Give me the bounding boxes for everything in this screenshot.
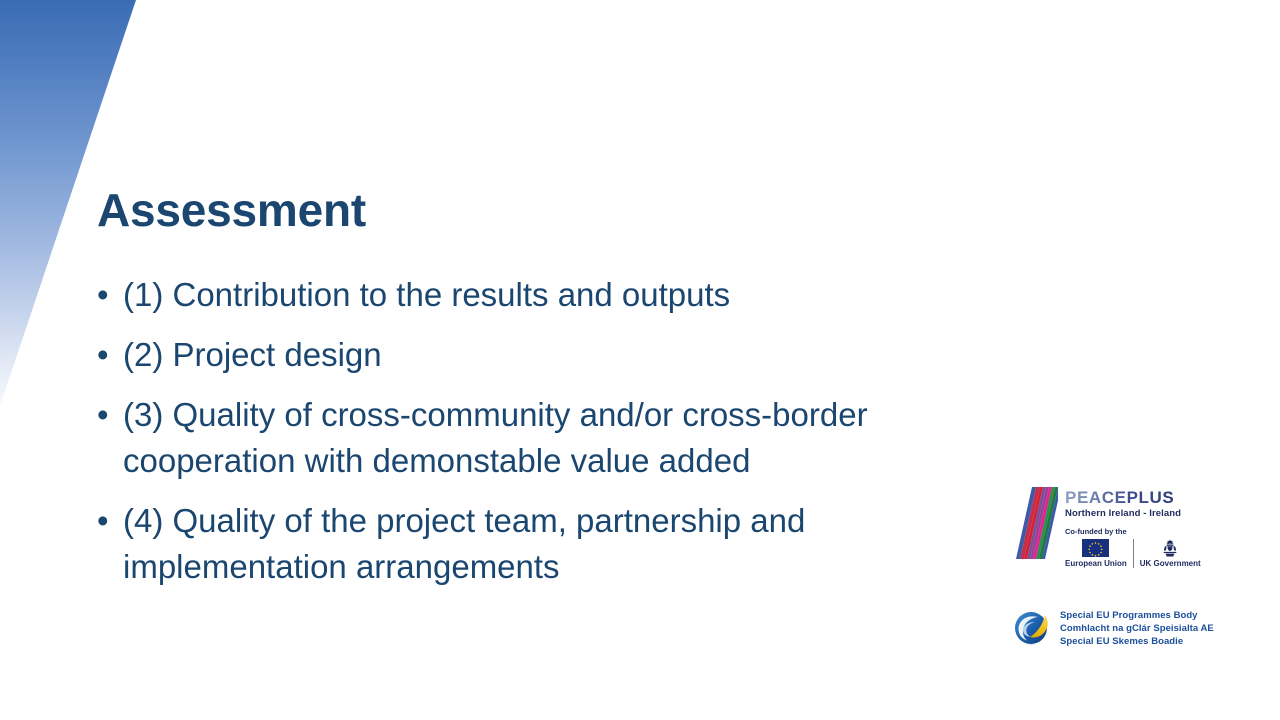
bullet-marker-icon: • <box>97 332 109 378</box>
seupb-logo: Special EU Programmes Body Comhlacht na … <box>1012 604 1217 652</box>
seupb-text-block: Special EU Programmes Body Comhlacht na … <box>1060 609 1214 648</box>
list-item-label: (2) Project design <box>123 332 976 378</box>
list-item: • (1) Contribution to the results and ou… <box>96 272 976 318</box>
page-title: Assessment <box>97 185 366 236</box>
eu-flag-icon <box>1082 539 1109 557</box>
list-item: • (2) Project design <box>96 332 976 378</box>
seupb-globe-icon <box>1012 608 1052 648</box>
seupb-line-english: Special EU Programmes Body <box>1060 609 1214 622</box>
peaceplus-logo: PEACEPLUS Northern Ireland - Ireland Co-… <box>1016 487 1216 567</box>
european-union-block: European Union <box>1065 539 1134 568</box>
bullet-marker-icon: • <box>97 272 109 318</box>
slide-canvas: Assessment • (1) Contribution to the res… <box>0 0 1280 720</box>
uk-government-label: UK Government <box>1140 559 1201 568</box>
seupb-line-ulster-scots: Special EU Skemes Boadie <box>1060 635 1214 648</box>
peaceplus-wordmark: PEACEPLUS <box>1065 489 1216 506</box>
peaceplus-stripes-icon <box>1016 487 1058 559</box>
list-item-label: (1) Contribution to the results and outp… <box>123 272 976 318</box>
uk-government-block: UK Government <box>1134 539 1201 568</box>
list-item: • (3) Quality of cross-community and/or … <box>96 392 976 484</box>
list-item: • (4) Quality of the project team, partn… <box>96 498 976 590</box>
assessment-criteria-list: • (1) Contribution to the results and ou… <box>96 272 976 604</box>
cofunded-label: Co-funded by the <box>1065 527 1216 536</box>
uk-royal-crest-icon <box>1159 539 1181 557</box>
seupb-line-irish: Comhlacht na gClár Speisialta AE <box>1060 622 1214 635</box>
list-item-label: (4) Quality of the project team, partner… <box>123 498 976 590</box>
european-union-label: European Union <box>1065 559 1127 568</box>
bullet-marker-icon: • <box>97 392 109 438</box>
funders-row: European Union UK G <box>1065 539 1216 568</box>
list-item-label: (3) Quality of cross-community and/or cr… <box>123 392 976 484</box>
peaceplus-region-label: Northern Ireland - Ireland <box>1065 509 1216 519</box>
bullet-marker-icon: • <box>97 498 109 544</box>
